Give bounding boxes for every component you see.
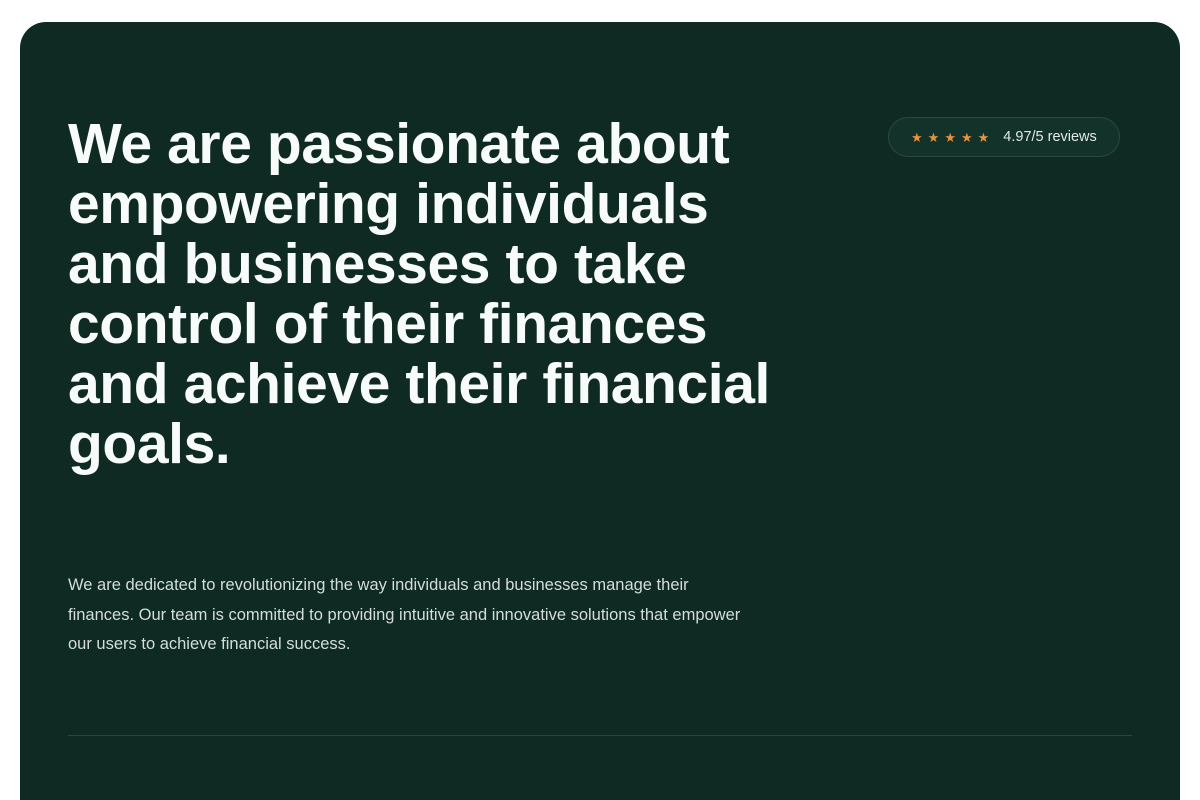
star-rating-group: ★ ★ ★ ★ ★ <box>911 131 989 144</box>
rating-badge[interactable]: ★ ★ ★ ★ ★ 4.97/5 reviews <box>888 117 1120 157</box>
star-icon: ★ <box>978 131 990 144</box>
hero-section: ★ ★ ★ ★ ★ 4.97/5 reviews We are passiona… <box>20 22 1180 800</box>
hero-description: We are dedicated to revolutionizing the … <box>68 571 758 660</box>
rating-label: 4.97/5 reviews <box>1003 130 1097 145</box>
star-icon: ★ <box>944 131 956 144</box>
section-divider <box>68 735 1132 736</box>
star-icon: ★ <box>928 131 940 144</box>
page-title: We are passionate about empowering indiv… <box>68 114 788 474</box>
star-icon: ★ <box>911 131 923 144</box>
page-root: ★ ★ ★ ★ ★ 4.97/5 reviews We are passiona… <box>0 0 1200 800</box>
star-icon: ★ <box>961 131 973 144</box>
